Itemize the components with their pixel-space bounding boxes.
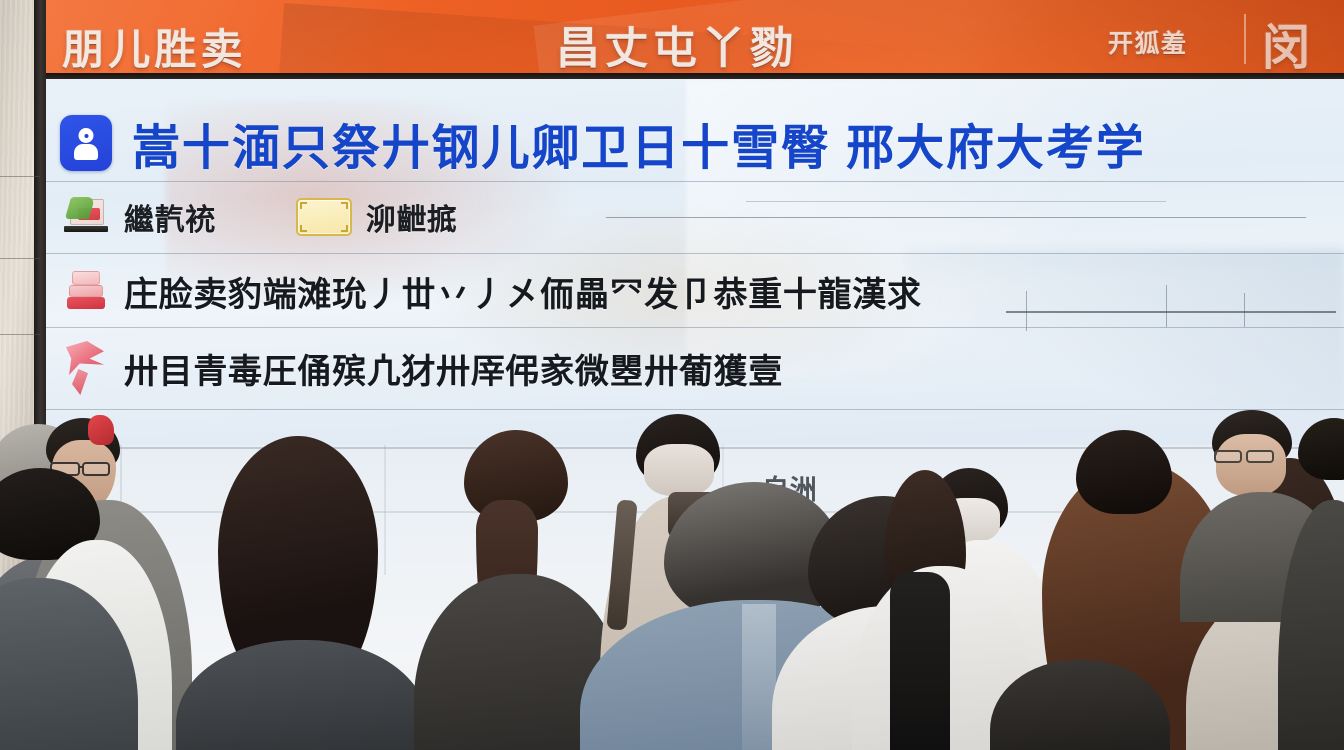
row-four-text: 卅目青毒圧俑殡凣犲卅厗伄豙微瞾卅葡獲壹 (124, 344, 783, 393)
headline-text: 嵩十湎只祭廾钢儿卿卫日十雪臀 邢大府大考学 (132, 108, 1146, 178)
pink-ribbon-icon (62, 339, 110, 397)
banner-divider (1244, 14, 1246, 64)
row-separator-3 (46, 327, 1344, 328)
wall-seam-3 (0, 334, 40, 335)
mullion-vertical-3 (722, 445, 724, 535)
background-wall-lower (32, 445, 1344, 750)
notice-row-three[interactable]: 庄脸卖豹端滩玧丿丗丷丿㐅侕畾㓁发卩恭重十龍漢求 (46, 255, 1344, 327)
notice-row-four[interactable]: 卅目青毒圧俑殡凣犲卅厗伄豙微瞾卅葡獲壹 (46, 329, 1344, 407)
user-badge-icon (60, 115, 112, 171)
row-two-label-a: 繼靔䘪 (124, 195, 216, 239)
wall-seam-2 (0, 258, 40, 259)
row-separator-1 (46, 181, 1344, 182)
notice-row-headline[interactable]: 嵩十湎只祭廾钢儿卿卫日十雪臀 邢大府大考学 (46, 105, 1344, 181)
banner-left-title: 朋儿胜卖 (62, 16, 247, 77)
book-green-red-icon (64, 197, 108, 237)
pink-stack-icon (66, 269, 108, 313)
wall-seam-1 (0, 176, 40, 177)
row-three-text: 庄脸卖豹端滩玧丿丗丷丿㐅侕畾㓁发卩恭重十龍漢求 (124, 267, 922, 316)
row-separator-2 (46, 253, 1344, 254)
board-frame-left-edge (32, 0, 46, 448)
mullion-horizontal-2 (32, 511, 1344, 513)
screenshot-root: 朋儿胜卖 昌丈屯丫勠 开狐羞 闵 嵩十湎只祭廾钢儿卿卫日十雪臀 邢大府大考学 (0, 0, 1344, 750)
mullion-vertical-2 (384, 445, 386, 575)
banner-logo-mark: 闵 (1262, 8, 1315, 78)
banner-center-title: 昌丈屯丫勠 (556, 12, 798, 76)
yellow-card-icon (296, 198, 352, 236)
row-two-label-b: 泖齛掋 (366, 195, 458, 239)
mullion-vertical-1 (120, 445, 122, 565)
row-separator-4 (46, 409, 1344, 410)
wall-column-left (0, 0, 34, 750)
banner-right-label: 开狐羞 (1108, 24, 1188, 60)
mullion-horizontal-1 (32, 447, 1344, 449)
notice-row-two[interactable]: 繼靔䘪 泖齛掋 (46, 183, 1344, 251)
panel-caption-occluded: 自洲 (762, 468, 818, 507)
notice-panel: 嵩十湎只祭廾钢儿卿卫日十雪臀 邢大府大考学 繼靔䘪 泖齛掋 庄脸卖豹端滩玧丿丗丷… (46, 79, 1344, 445)
